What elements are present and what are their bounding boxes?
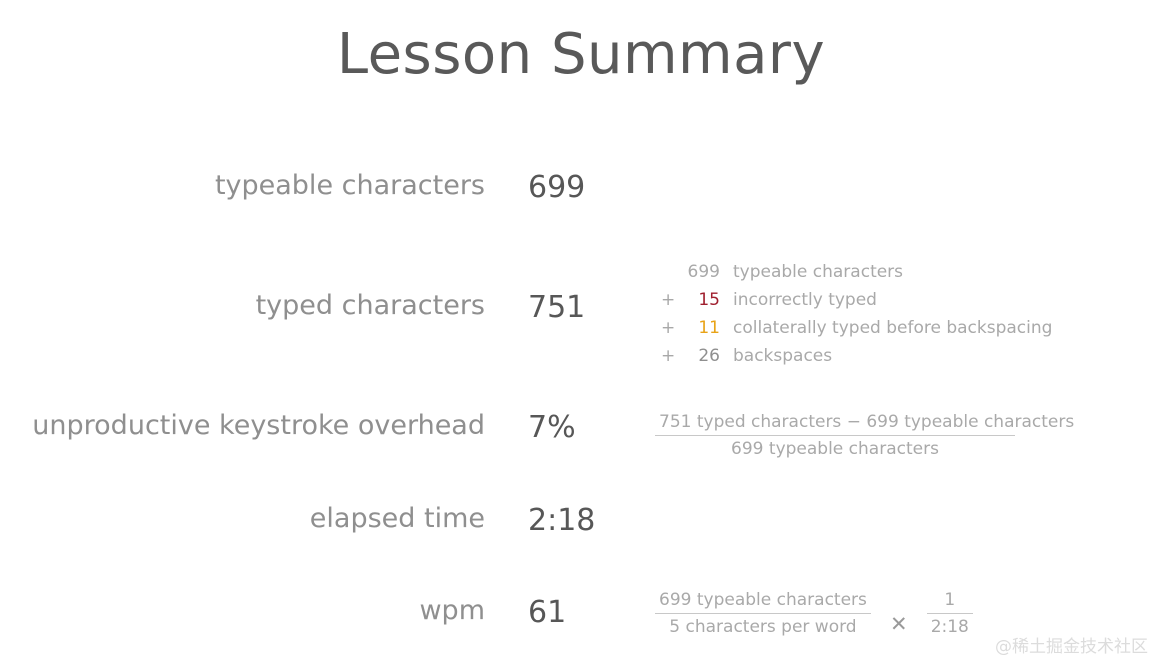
- fraction-numerator: 751 typed characters − 699 typeable char…: [655, 412, 1015, 436]
- fraction-denominator: 5 characters per word: [655, 614, 871, 637]
- page-title: Lesson Summary: [0, 22, 1162, 87]
- breakdown-number: 11: [665, 318, 720, 338]
- fraction-numerator: 1: [927, 590, 973, 614]
- row-label: typed characters: [0, 290, 485, 321]
- fraction-denominator: 2:18: [927, 614, 973, 637]
- multiply-icon: ✕: [890, 612, 908, 636]
- breakdown-line: + 15 incorrectly typed: [655, 290, 1085, 318]
- row-label: elapsed time: [0, 503, 485, 534]
- row-label: unproductive keystroke overhead: [0, 410, 485, 441]
- row-value: 751: [528, 290, 585, 325]
- overhead-fraction: 751 typed characters − 699 typeable char…: [655, 412, 1015, 459]
- wpm-right-fraction: 1 2:18: [927, 590, 973, 637]
- breakdown-line: + 26 backspaces: [655, 346, 1085, 374]
- row-value: 7%: [528, 410, 576, 445]
- breakdown-number: 15: [665, 290, 720, 310]
- wpm-left-fraction: 699 typeable characters 5 characters per…: [655, 590, 871, 637]
- breakdown-text: backspaces: [733, 346, 832, 366]
- fraction-denominator: 699 typeable characters: [655, 436, 1015, 459]
- breakdown-line: 699 typeable characters: [655, 262, 1085, 290]
- breakdown-text: typeable characters: [733, 262, 903, 282]
- watermark: @稀土掘金技术社区: [995, 632, 1148, 657]
- overhead-formula: 751 typed characters − 699 typeable char…: [655, 412, 1015, 459]
- row-value: 2:18: [528, 503, 595, 538]
- breakdown-text: collaterally typed before backspacing: [733, 318, 1052, 338]
- typed-characters-breakdown: 699 typeable characters + 15 incorrectly…: [655, 262, 1085, 374]
- breakdown-number: 699: [665, 262, 720, 282]
- row-value: 699: [528, 170, 585, 205]
- fraction-numerator: 699 typeable characters: [655, 590, 871, 614]
- breakdown-text: incorrectly typed: [733, 290, 877, 310]
- breakdown-number: 26: [665, 346, 720, 366]
- breakdown-line: + 11 collaterally typed before backspaci…: [655, 318, 1085, 346]
- wpm-formula: 699 typeable characters 5 characters per…: [655, 590, 973, 637]
- row-value: 61: [528, 595, 566, 630]
- row-label: wpm: [0, 595, 485, 626]
- row-label: typeable characters: [0, 170, 485, 201]
